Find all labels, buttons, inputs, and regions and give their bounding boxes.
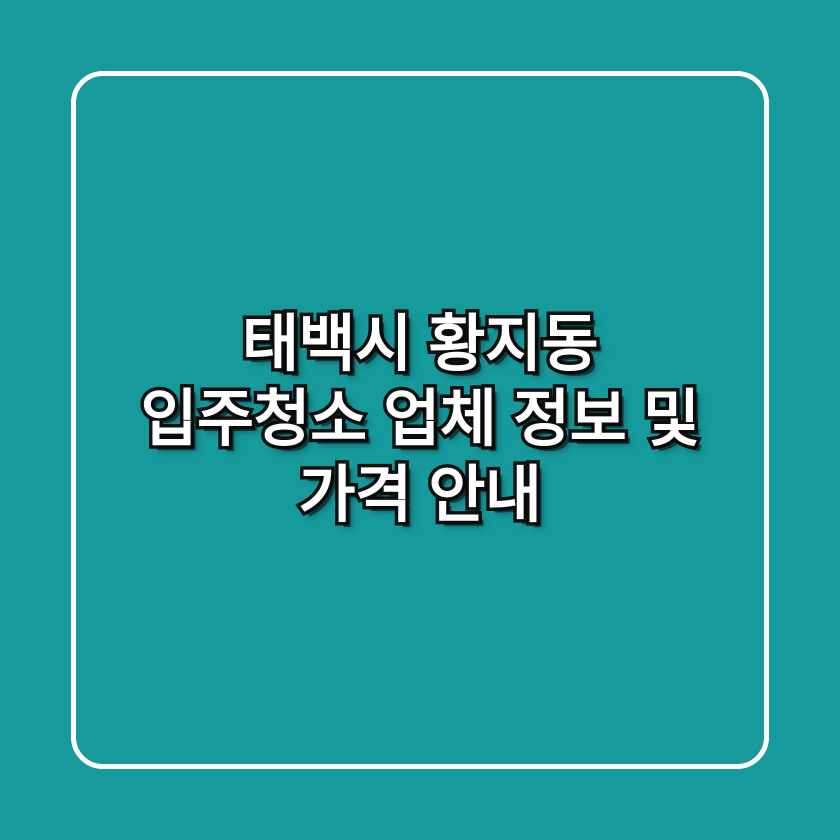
title-block: 태백시 황지동 입주청소 업체 정보 및 가격 안내: [0, 0, 840, 840]
title-line-3: 가격 안내: [299, 458, 542, 534]
title-line-2: 입주청소 업체 정보 및: [140, 382, 699, 458]
title-line-1: 태백시 황지동: [242, 307, 598, 383]
thumbnail-card: 태백시 황지동 입주청소 업체 정보 및 가격 안내: [0, 0, 840, 840]
